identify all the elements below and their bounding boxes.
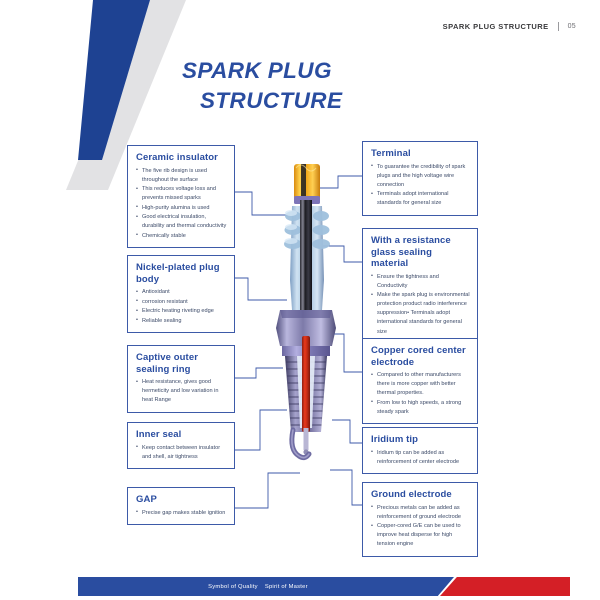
page-title: SPARK PLUG STRUCTURE: [182, 56, 342, 115]
spark-plug-cutaway: [262, 160, 352, 490]
callout-inner-seal[interactable]: Inner seal Keep contact between insulato…: [127, 422, 235, 469]
callout-bullet-list: Keep contact between insulator and shell…: [136, 444, 227, 462]
callout-title: Captive outer sealing ring: [136, 352, 227, 375]
iridium-tip: [303, 428, 308, 455]
callout-bullet-list: Heat resistance, gives good hermeticity …: [136, 378, 227, 405]
callout-bullet: The five rib design is used throughout t…: [136, 167, 227, 185]
callout-bullet-list: Precise gap makes stable ignition: [136, 509, 227, 518]
callout-bullet: Reliable sealing: [136, 317, 227, 326]
page-title-line1: SPARK PLUG: [182, 58, 332, 83]
callout-ground-electrode[interactable]: Ground electrode Precious metals can be …: [362, 482, 478, 557]
header-divider: [558, 22, 559, 31]
callout-bullet-list: Precious metals can be added as reinforc…: [371, 504, 470, 550]
callout-bullet: Ensure the tightness and Conductivity: [371, 273, 470, 291]
callout-bullet: Compared to other manufacturers there is…: [371, 371, 470, 398]
callout-bullet: Heat resistance, gives good hermeticity …: [136, 378, 227, 405]
callout-iridium-tip[interactable]: Iridium tip Iridium tip can be added as …: [362, 427, 478, 474]
callout-terminal[interactable]: Terminal To guarantee the credibility of…: [362, 141, 478, 216]
copper-core: [302, 336, 310, 432]
callout-bullet-list: To guarantee the credibility of spark pl…: [371, 163, 470, 209]
callout-bullet: Electric heating riveting edge: [136, 307, 227, 316]
callout-bullet-list: Iridium tip can be added as reinforcemen…: [371, 449, 470, 467]
callout-title: GAP: [136, 494, 227, 506]
callout-captive-outer-sealing-ring[interactable]: Captive outer sealing ring Heat resistan…: [127, 345, 235, 413]
callout-resistance-glass-sealing-material[interactable]: With a resistance glass sealing material…: [362, 228, 478, 344]
callout-bullet-list: Ensure the tightness and Conductivity Ma…: [371, 273, 470, 337]
callout-bullet: Keep contact between insulator and shell…: [136, 444, 227, 462]
callout-gap[interactable]: GAP Precise gap makes stable ignition: [127, 487, 235, 525]
header-page-number: 05: [568, 23, 576, 30]
callout-title: Ground electrode: [371, 489, 470, 501]
page-footer: Symbol of Quality Spirit of Master: [0, 574, 600, 600]
callout-bullet: Iridium tip can be added as reinforcemen…: [371, 449, 470, 467]
callout-title: Nickel-plated plug body: [136, 262, 227, 285]
callout-bullet: Antioxidant: [136, 288, 227, 297]
callout-bullet: Copper-cored G/E can be used to improve …: [371, 522, 470, 549]
callout-bullet-list: Antioxidant corrosion resistant Electric…: [136, 288, 227, 326]
callout-bullet: Good electrical insulation, durability a…: [136, 213, 227, 231]
page-header: SPARK PLUG STRUCTURE 05: [443, 22, 576, 31]
callout-bullet-list: Compared to other manufacturers there is…: [371, 371, 470, 417]
slide-page: SPARK PLUG STRUCTURE 05 SPARK PLUG STRUC…: [0, 0, 600, 600]
callout-title: Terminal: [371, 148, 470, 160]
callout-bullet: Terminals adopt international standards …: [371, 190, 470, 208]
callout-bullet: Precise gap makes stable ignition: [136, 509, 227, 518]
footer-tagline-part1: Symbol of Quality: [208, 584, 258, 590]
callout-bullet-list: The five rib design is used throughout t…: [136, 167, 227, 241]
callout-copper-cored-center-electrode[interactable]: Copper cored center electrode Compared t…: [362, 338, 478, 424]
callout-nickel-plated-plug-body[interactable]: Nickel-plated plug body Antioxidant corr…: [127, 255, 235, 333]
footer-tagline: Symbol of Quality Spirit of Master: [78, 577, 438, 596]
terminal-nut: [294, 164, 320, 204]
callout-bullet: This reduces voltage loss and prevents m…: [136, 185, 227, 203]
callout-title: Inner seal: [136, 429, 227, 441]
callout-title: Ceramic insulator: [136, 152, 227, 164]
callout-bullet: To guarantee the credibility of spark pl…: [371, 163, 470, 190]
callout-bullet: Precious metals can be added as reinforc…: [371, 504, 470, 522]
callout-title: Copper cored center electrode: [371, 345, 470, 368]
callout-bullet: corrosion resistant: [136, 298, 227, 307]
page-title-line2: STRUCTURE: [182, 86, 342, 116]
footer-tagline-part2: Spirit of Master: [265, 584, 308, 590]
callout-bullet: Chemically stable: [136, 232, 227, 241]
callout-ceramic-insulator[interactable]: Ceramic insulator The five rib design is…: [127, 145, 235, 248]
callout-title: With a resistance glass sealing material: [371, 235, 470, 270]
footer-red-accent: [440, 577, 570, 596]
callout-bullet: Make the spark plug is environmental pro…: [371, 291, 470, 336]
callout-bullet: From low to high speeds, a strong steady…: [371, 399, 470, 417]
header-title: SPARK PLUG STRUCTURE: [443, 22, 549, 31]
callout-title: Iridium tip: [371, 434, 470, 446]
callout-bullet: High-purity alumina is used: [136, 204, 227, 213]
